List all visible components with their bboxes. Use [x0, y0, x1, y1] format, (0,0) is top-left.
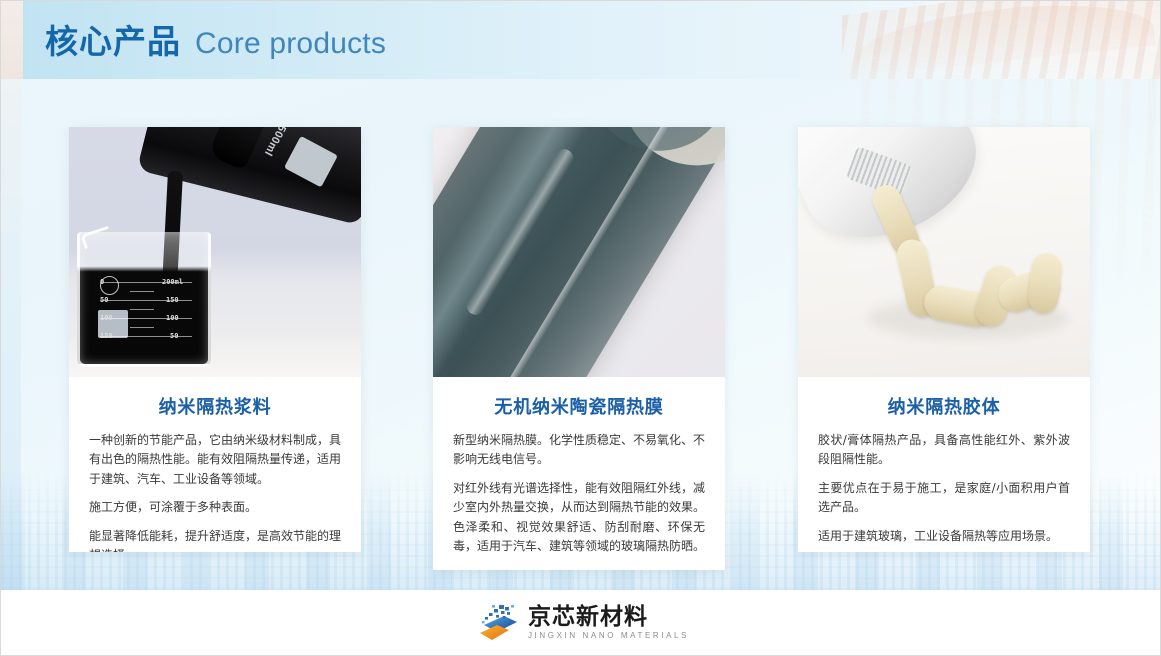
card-body: 纳米隔热浆料 一种创新的节能产品，它由纳米级材料制成，具有出色的隔热性能。能有效…	[69, 377, 361, 552]
product-card[interactable]: 无机纳米陶瓷隔热膜 新型纳米隔热膜。化学性质稳定、不易氧化、不影响无线电信号。 …	[433, 127, 725, 570]
slide-body: 500ml	[1, 79, 1161, 590]
card-paragraph: 施工方便，可涂覆于多种表面。	[89, 498, 341, 517]
bottle-volume-label: 500ml	[262, 127, 288, 158]
card-body: 无机纳米陶瓷隔热膜 新型纳米隔热膜。化学性质稳定、不易氧化、不影响无线电信号。 …	[433, 377, 725, 570]
scale-right-50: 50	[170, 332, 178, 340]
page-title-cn: 核心产品	[45, 15, 181, 63]
scale-left-50: 50	[100, 296, 108, 304]
product-card-list: 500ml	[1, 79, 1161, 590]
product-card[interactable]: 纳米隔热胶体 胶状/膏体隔热产品，具备高性能红外、紫外波段阻隔性能。 主要优点在…	[798, 127, 1090, 552]
brand-logo-text: 京芯新材料 JINGXIN NANO MATERIALS	[528, 606, 689, 640]
slide-footer: 京芯新材料 JINGXIN NANO MATERIALS	[1, 590, 1161, 656]
card-paragraph: 对红外线有光谱选择性，能有效阻隔红外线，减少室内外热量交换，从而达到隔热节能的效…	[453, 479, 705, 557]
card-title: 无机纳米陶瓷隔热膜	[453, 393, 705, 419]
extruded-paste-icon	[798, 127, 1090, 377]
card-title: 纳米隔热胶体	[818, 393, 1070, 419]
beaker-graduation-scale: 0 50 100 150 200ml 150 100 50	[100, 278, 196, 352]
card-paragraph: 适用于建筑玻璃，工业设备隔热等应用场景。	[818, 527, 1070, 546]
scale-right-200: 200ml	[162, 278, 183, 286]
brand-name-cn: 京芯新材料	[528, 606, 689, 629]
brand-name-en: JINGXIN NANO MATERIALS	[528, 632, 689, 640]
card-title: 纳米隔热浆料	[89, 393, 341, 419]
brand-logo[interactable]: 京芯新材料 JINGXIN NANO MATERIALS	[474, 603, 689, 643]
scale-left-150: 150	[100, 332, 113, 340]
scale-left-100: 100	[100, 314, 113, 322]
card-paragraph: 能显著降低能耗，提升舒适度，是高效节能的理想选择。	[89, 527, 341, 552]
beaker-spout-icon	[80, 226, 112, 249]
nano-insulation-colloid-photo	[798, 127, 1090, 377]
page-title-en: Core products	[195, 27, 386, 61]
scale-right-150: 150	[166, 296, 179, 304]
card-paragraph: 主要优点在于易于施工，是家庭/小面积用户首选产品。	[818, 479, 1070, 518]
ceramic-insulation-film-photo	[433, 127, 725, 377]
slide-core-products: 核心产品 Core products 500ml	[0, 0, 1161, 656]
product-card[interactable]: 500ml	[69, 127, 361, 552]
jingxin-nano-pixel-logo-icon	[474, 603, 518, 643]
card-body: 纳米隔热胶体 胶状/膏体隔热产品，具备高性能红外、紫外波段阻隔性能。 主要优点在…	[798, 377, 1090, 552]
bottle-label	[284, 136, 338, 188]
nano-insulation-slurry-photo: 500ml	[69, 127, 361, 377]
scale-right-100: 100	[166, 314, 179, 322]
card-paragraph: 胶状/膏体隔热产品，具备高性能红外、紫外波段阻隔性能。	[818, 431, 1070, 470]
slide-header: 核心产品 Core products	[1, 1, 1161, 79]
card-paragraph: 一种创新的节能产品，它由纳米级材料制成，具有出色的隔热性能。能有效阻隔热量传递，…	[89, 431, 341, 489]
card-paragraph: 新型纳米隔热膜。化学性质稳定、不易氧化、不影响无线电信号。	[453, 431, 705, 470]
scale-left-0: 0	[100, 278, 104, 286]
header-left-edge	[1, 1, 23, 79]
beaker-icon: 0 50 100 150 200ml 150 100 50	[77, 232, 211, 367]
bottle-cap-icon	[208, 127, 270, 171]
page-title: 核心产品 Core products	[45, 15, 386, 63]
